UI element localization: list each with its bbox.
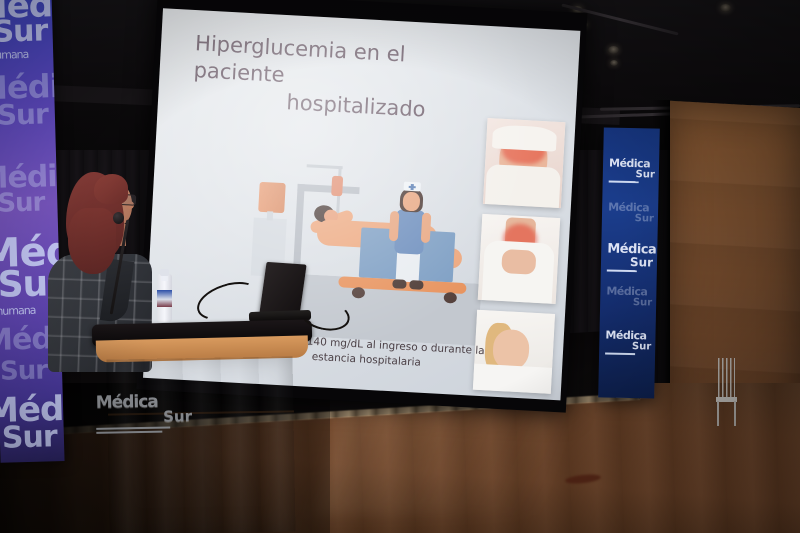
logo-bar bbox=[607, 270, 637, 272]
logo-bars bbox=[96, 426, 192, 434]
banner-left-text: humana bbox=[0, 304, 36, 318]
presenter-hair-side bbox=[68, 208, 116, 274]
banner-left-text: Sur bbox=[1, 419, 57, 456]
bottle-cap bbox=[160, 269, 169, 276]
iv-bag-icon bbox=[331, 176, 343, 197]
photo-head-bandage bbox=[483, 118, 566, 208]
spotlight-icon bbox=[610, 60, 618, 66]
podium-body bbox=[106, 356, 295, 533]
medica-sur-logo: Médica Sur bbox=[607, 238, 654, 272]
banner-left-text: Sur bbox=[0, 187, 45, 218]
banner-left-text: Sur bbox=[0, 97, 48, 131]
nurse-arm bbox=[421, 213, 432, 243]
medica-sur-logo-faint: Médica Sur bbox=[608, 196, 655, 225]
nurse-shoe bbox=[409, 280, 423, 290]
water-bottle bbox=[157, 264, 172, 322]
monitor-icon bbox=[258, 182, 286, 213]
bandage bbox=[492, 124, 557, 151]
nurse-shoe bbox=[392, 279, 406, 289]
logo-sur: Sur bbox=[605, 341, 651, 353]
bed-frame-top bbox=[297, 184, 359, 194]
medica-sur-logo-faint: Médica Sur bbox=[606, 280, 653, 309]
neck-wrap bbox=[485, 164, 561, 208]
chair-back bbox=[718, 358, 735, 398]
medica-sur-logo: Médica Sur bbox=[605, 324, 652, 355]
logo-sur: Sur bbox=[607, 255, 653, 270]
medica-sur-logo: Médica Sur bbox=[609, 152, 656, 183]
laptop-screen bbox=[259, 262, 306, 316]
presentation-scene: Hiperglucemia en el paciente hospitaliza… bbox=[0, 0, 800, 533]
logo-bar bbox=[609, 181, 639, 183]
monitor-neck bbox=[267, 211, 273, 220]
banner-left-text: Sur bbox=[0, 355, 47, 386]
bottle-label bbox=[157, 290, 172, 307]
spotlight-icon bbox=[608, 46, 619, 54]
banner-left-text: Sur bbox=[0, 13, 48, 50]
logo-sur: Sur bbox=[608, 213, 654, 225]
iv-pole-arm bbox=[307, 164, 343, 169]
photo-hand bbox=[501, 249, 536, 275]
banner-right-medica-sur: Médica Sur Médica Sur Médica Sur Médica … bbox=[598, 127, 660, 398]
logo-medica: Médica bbox=[96, 392, 158, 413]
nurse-arm bbox=[389, 211, 400, 241]
banner-left-text: humana bbox=[0, 48, 28, 62]
spotlight-icon bbox=[720, 4, 731, 12]
chair-leg bbox=[734, 401, 736, 426]
podium-medica-sur-logo: Médica Sur bbox=[96, 391, 193, 436]
logo-sur: Sur bbox=[606, 297, 652, 309]
logo-bar bbox=[605, 353, 635, 355]
slide-title: Hiperglucemia en el paciente hospitaliza… bbox=[192, 30, 496, 127]
presenter-hair-front bbox=[94, 174, 128, 204]
chiavari-chair bbox=[716, 358, 738, 426]
chair-leg bbox=[717, 401, 719, 426]
microphone-icon bbox=[113, 212, 124, 224]
nurse-legs bbox=[396, 251, 421, 282]
photo-chest-pain bbox=[478, 214, 561, 304]
logo-sur: Sur bbox=[609, 169, 655, 181]
medical-cross-icon bbox=[409, 186, 416, 188]
